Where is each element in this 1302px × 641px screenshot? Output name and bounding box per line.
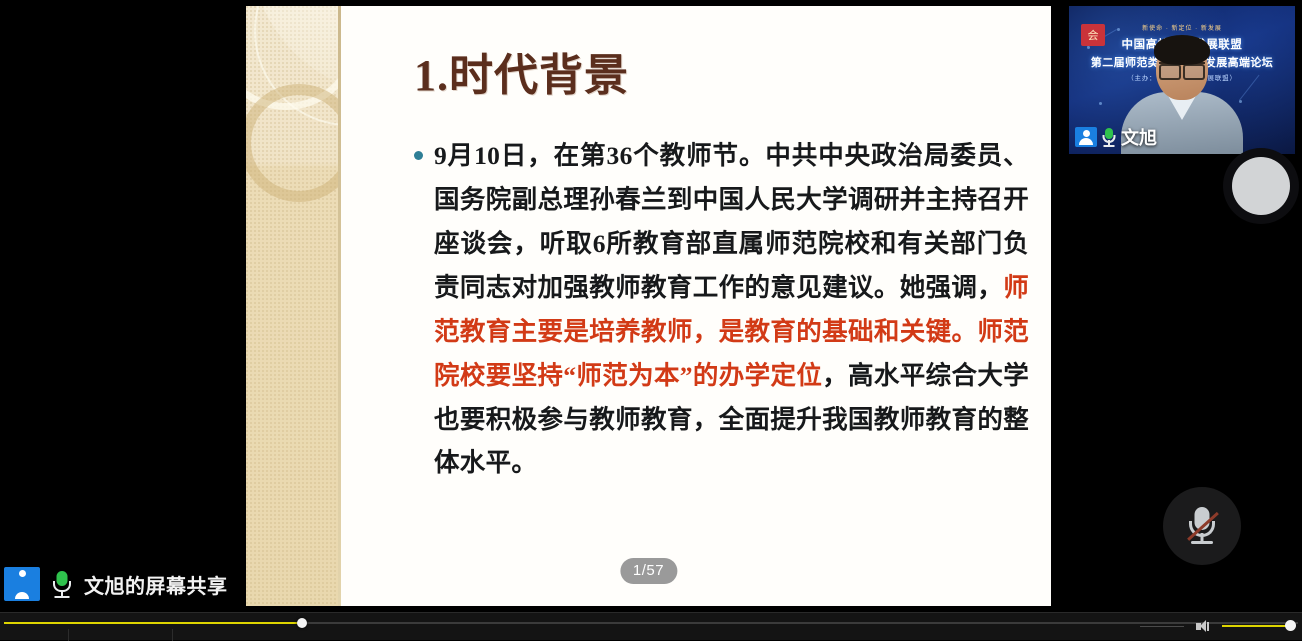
mic-stem (1201, 533, 1204, 541)
participant-video-tile[interactable]: 会 新使命 · 新定位 · 新发展 中国高校师范发展联盟 第二届师范类院校学科发… (1069, 6, 1295, 154)
volume-slider-track[interactable] (1222, 625, 1292, 627)
volume-slider-handle[interactable] (1285, 620, 1296, 631)
floating-round-control[interactable] (1223, 148, 1299, 224)
playback-transport-bar[interactable] (0, 612, 1302, 640)
tile-name-bar: 文旭 (1075, 124, 1157, 150)
screen-share-indicator: 文旭的屏幕共享 (0, 562, 228, 606)
microphone-icon[interactable] (1102, 127, 1116, 147)
decorative-ring-bottom (246, 84, 338, 202)
transport-divider (68, 629, 69, 641)
slide-body-text: 9月10日，在第36个教师节。中共中央政治局委员、国务院副总理孙春兰到中国人民大… (434, 134, 1029, 485)
shared-screen-slide[interactable]: 1.时代背景 9月10日，在第36个教师节。中共中央政治局委员、国务院副总理孙春… (246, 6, 1051, 606)
speaker-cone (1200, 620, 1206, 632)
slide-content: 1.时代背景 9月10日，在第36个教师节。中共中央政治局委员、国务院副总理孙春… (338, 6, 1051, 606)
microphone-mute-button[interactable] (1163, 487, 1241, 565)
page-indicator: 1/57 (620, 558, 677, 584)
participant-name: 文旭 (1121, 124, 1157, 150)
slide-decorative-sidebar (246, 6, 338, 606)
speaker-wave (1207, 622, 1209, 631)
mic-base (1191, 541, 1213, 544)
participant-glasses (1159, 62, 1205, 74)
backdrop-tagline: 新使命 · 新定位 · 新发展 (1142, 23, 1222, 32)
slide-bullet: 9月10日，在第36个教师节。中共中央政治局委员、国务院副总理孙春兰到中国人民大… (414, 134, 1029, 485)
network-dot (1117, 28, 1120, 31)
mic-base (1104, 145, 1115, 147)
slide-title: 1.时代背景 (414, 52, 1029, 100)
network-dot (1099, 102, 1102, 105)
seek-bar-fill (4, 622, 302, 624)
transport-rule (1140, 626, 1184, 627)
person-icon (4, 567, 40, 601)
microphone-icon[interactable] (52, 570, 72, 598)
slide-text-plain: 9月10日，在第36个教师节。中共中央政治局委员、国务院副总理孙春兰到中国人民大… (434, 141, 1029, 302)
seek-bar-track[interactable] (4, 622, 1298, 624)
meeting-stage: 1.时代背景 9月10日，在第36个教师节。中共中央政治局委员、国务院副总理孙春… (0, 0, 1302, 640)
volume-icon[interactable] (1196, 620, 1210, 633)
mic-base (55, 596, 70, 598)
transport-divider (172, 629, 173, 641)
microphone-muted-icon (1187, 505, 1217, 547)
participant-hair (1154, 35, 1210, 65)
screen-share-label: 文旭的屏幕共享 (84, 570, 228, 599)
person-icon (1075, 127, 1097, 147)
seek-bar-handle[interactable] (297, 618, 307, 628)
network-line (1239, 75, 1259, 101)
conference-badge-logo: 会 (1081, 24, 1105, 46)
bullet-dot-icon (414, 151, 423, 160)
floating-round-control-inner (1232, 157, 1290, 215)
